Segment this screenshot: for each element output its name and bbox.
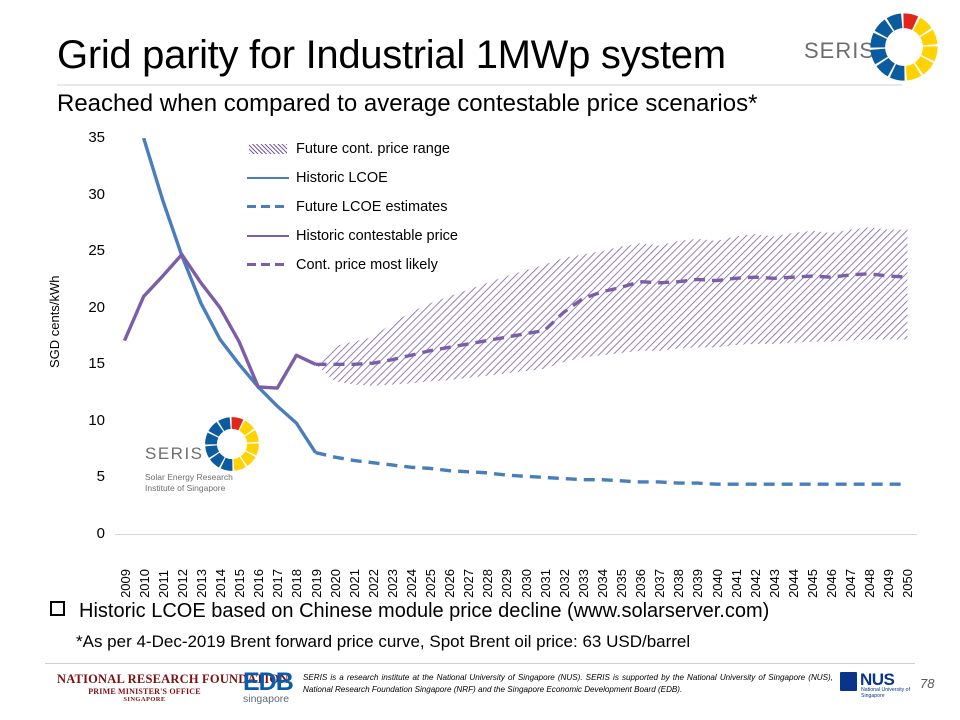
x-axis-tick-label: 2010: [137, 569, 152, 598]
legend-item[interactable]: Future cont. price range: [247, 134, 507, 163]
x-axis-tick-label: 2029: [499, 569, 514, 598]
seris-tagline-line1: Solar Energy Research: [145, 472, 265, 483]
legend-item-label: Future cont. price range: [296, 141, 450, 157]
nrf-line3: SINGAPORE: [57, 696, 232, 703]
legend-swatch-solid-icon: [247, 229, 289, 243]
seris-watermark-wordmark: SERIS: [145, 444, 204, 464]
y-axis-tick-label: 10: [67, 412, 105, 429]
y-axis-tick-label: 20: [67, 299, 105, 316]
x-axis-tick-label: 2024: [404, 569, 419, 598]
x-axis-tick-label: 2020: [328, 569, 343, 598]
legend-item-label: Cont. price most likely: [296, 257, 438, 273]
y-axis-tick-label: 25: [67, 242, 105, 259]
x-axis-tick-label: 2043: [767, 569, 782, 598]
legend-item-label: Historic LCOE: [296, 170, 388, 186]
y-axis-tick-label: 0: [67, 525, 105, 542]
x-axis-tick-label: 2014: [213, 569, 228, 598]
x-axis-tick-label: 2039: [690, 569, 705, 598]
page-subtitle: Reached when compared to average contest…: [57, 89, 897, 119]
footer-disclaimer: SERIS is a research institute at the Nat…: [303, 672, 833, 696]
footer-divider: [45, 663, 915, 664]
seris-sunwheel-icon: [864, 12, 944, 82]
x-axis-tick-label: 2040: [710, 569, 725, 598]
page-number: 78: [920, 676, 934, 691]
x-axis-tick-label: 2045: [805, 569, 820, 598]
x-axis-tick-label: 2050: [900, 569, 915, 598]
nus-crest-icon: [840, 672, 857, 691]
page-title: Grid parity for Industrial 1MWp system: [57, 32, 817, 78]
chart-legend: Future cont. price rangeHistoric LCOEFut…: [247, 134, 507, 279]
x-axis-tick-label: 2015: [232, 569, 247, 598]
x-axis-tick-label: 2037: [652, 569, 667, 598]
bullet-note-text: Historic LCOE based on Chinese module pr…: [79, 600, 769, 622]
legend-item[interactable]: Future LCOE estimates: [247, 192, 507, 221]
x-axis-tick-label: 2048: [862, 569, 877, 598]
x-axis-tick-label: 2012: [175, 569, 190, 598]
y-axis-ticks: 05101520253035: [57, 128, 105, 533]
y-axis-tick-label: 35: [67, 129, 105, 146]
x-axis-tick-label: 2042: [748, 569, 763, 598]
seris-header-logo: SERIS: [800, 12, 950, 78]
x-axis-tick-label: 2032: [557, 569, 572, 598]
footnote: *As per 4-Dec-2019 Brent forward price c…: [76, 632, 956, 652]
x-axis-tick-label: 2047: [843, 569, 858, 598]
x-axis-tick-label: 2017: [270, 569, 285, 598]
legend-swatch-dashed-icon: [247, 258, 289, 272]
x-axis-tick-label: 2009: [118, 569, 133, 598]
legend-swatch-hatch-icon: [247, 142, 289, 156]
title-divider: [57, 84, 902, 86]
x-axis-tick-label: 2016: [251, 569, 266, 598]
seris-plot-watermark: SERIS Solar Energy Research Institute of…: [143, 416, 265, 504]
edb-subtext: singapore: [243, 694, 309, 705]
x-axis-tick-label: 2026: [442, 569, 457, 598]
x-axis-tick-label: 2013: [194, 569, 209, 598]
x-axis-tick-label: 2030: [519, 569, 534, 598]
slide-root: Grid parity for Industrial 1MWp system R…: [0, 0, 960, 720]
x-axis-tick-label: 2041: [729, 569, 744, 598]
legend-item-label: Future LCOE estimates: [296, 199, 448, 215]
x-axis-tick-label: 2031: [538, 569, 553, 598]
x-axis-tick-label: 2033: [576, 569, 591, 598]
x-axis-tick-label: 2011: [156, 570, 171, 598]
legend-item[interactable]: Historic LCOE: [247, 163, 507, 192]
x-axis-tick-label: 2028: [480, 569, 495, 598]
x-axis-tick-label: 2044: [786, 569, 801, 598]
seris-tagline-line2: Institute of Singapore: [145, 483, 265, 494]
x-axis-ticks: 2009201020112012201320142015201620172018…: [115, 536, 917, 598]
nus-subtext: National University of Singapore: [861, 687, 912, 699]
x-axis-tick-label: 2049: [881, 569, 896, 598]
x-axis-tick-label: 2019: [309, 569, 324, 598]
x-axis-line: [115, 534, 917, 535]
x-axis-tick-label: 2038: [671, 569, 686, 598]
x-axis-tick-label: 2023: [385, 569, 400, 598]
edb-logo: EDB singapore: [243, 670, 309, 705]
bullet-note: Historic LCOE based on Chinese module pr…: [50, 600, 940, 623]
nrf-line2: PRIME MINISTER'S OFFICE: [57, 687, 232, 696]
legend-item[interactable]: Cont. price most likely: [247, 250, 507, 279]
bullet-square-icon: [50, 601, 65, 616]
legend-item[interactable]: Historic contestable price: [247, 221, 507, 250]
edb-wordmark: EDB: [243, 670, 309, 694]
legend-swatch-dashed-icon: [247, 200, 289, 214]
y-axis-tick-label: 5: [67, 468, 105, 485]
legend-swatch-solid-icon: [247, 171, 289, 185]
x-axis-tick-label: 2027: [461, 569, 476, 598]
chart-container: SGD cents/kWh 05101520253035 20092010201…: [57, 128, 917, 598]
y-axis-tick-label: 30: [67, 186, 105, 203]
x-axis-tick-label: 2034: [595, 569, 610, 598]
x-axis-tick-label: 2035: [614, 569, 629, 598]
seris-tagline: Solar Energy Research Institute of Singa…: [145, 472, 265, 494]
x-axis-tick-label: 2025: [423, 569, 438, 598]
x-axis-tick-label: 2018: [289, 569, 304, 598]
series-future-lcoe-estimates: [316, 453, 908, 485]
x-axis-tick-label: 2022: [366, 569, 381, 598]
x-axis-tick-label: 2046: [824, 569, 839, 598]
legend-item-label: Historic contestable price: [296, 228, 458, 244]
seris-watermark-sunwheel-icon: [201, 416, 263, 472]
y-axis-tick-label: 15: [67, 355, 105, 372]
nrf-line1: NATIONAL RESEARCH FOUNDATION: [57, 672, 232, 687]
x-axis-tick-label: 2021: [347, 569, 362, 598]
x-axis-tick-label: 2036: [633, 569, 648, 598]
nrf-logo: NATIONAL RESEARCH FOUNDATION PRIME MINIS…: [57, 672, 232, 703]
